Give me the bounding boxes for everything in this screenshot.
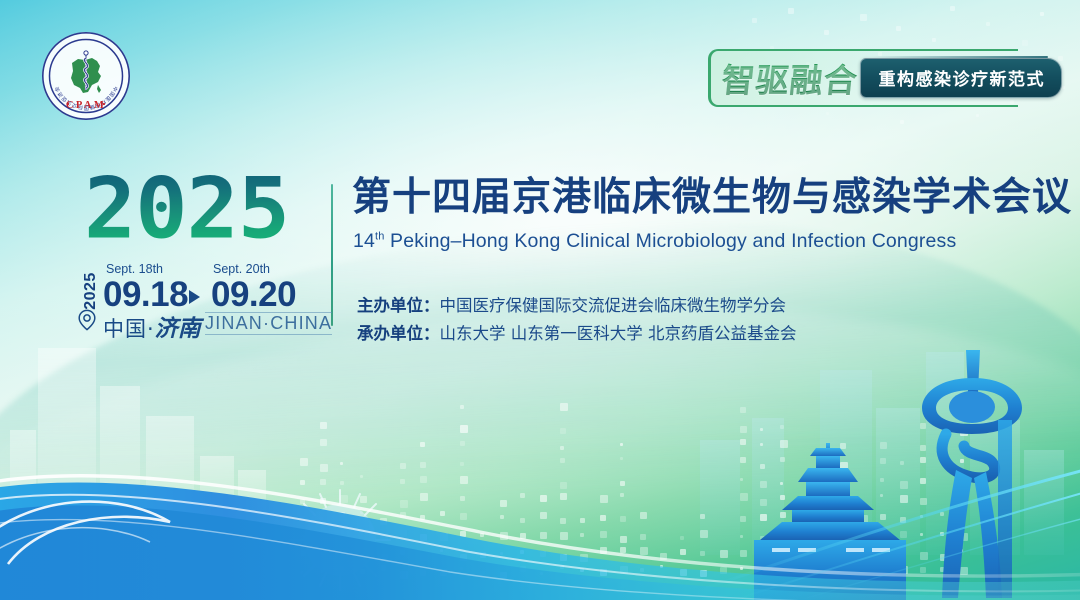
end-date-label: Sept. 20th — [213, 262, 270, 276]
slogan-group: 智驱融合 重构感染诊疗新范式 — [722, 52, 1063, 104]
conference-banner: 中国医疗保健国际交流促进会 CPAM 智驱融合 重构感染诊疗新范式 2025 第… — [0, 0, 1080, 600]
subtitle-prefix: 14 — [353, 230, 375, 252]
flowing-wave-icon — [0, 430, 1080, 600]
subtitle-rest: Peking–Hong Kong Clinical Microbiology a… — [384, 230, 956, 252]
slogan-badge: 重构感染诊疗新范式 — [860, 58, 1063, 98]
year-2025: 2025 — [84, 168, 289, 252]
slogan-main-text: 智驱融合 — [719, 54, 866, 102]
page-subtitle-english: 14th Peking–Hong Kong Clinical Microbiol… — [353, 230, 956, 253]
start-date-label: Sept. 18th — [106, 262, 163, 276]
scenery-layer — [0, 300, 1080, 600]
page-title: 第十四届京港临床微生物与感染学术会议 — [352, 176, 1072, 220]
